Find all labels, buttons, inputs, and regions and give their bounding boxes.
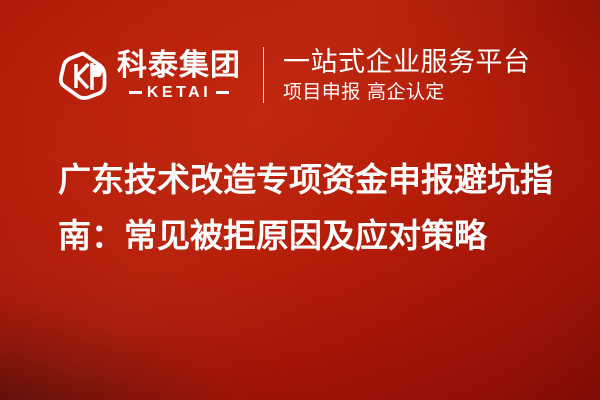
brand-name-cn: 科泰集团 [117, 50, 241, 82]
brand-name-en-row: KETAI [117, 84, 241, 101]
ketai-diamond-kd-monogram-logo [58, 50, 108, 100]
tagline-primary: 一站式企业服务平台 [283, 47, 531, 79]
brand-lockup: 科泰集团 KETAI [58, 50, 241, 101]
headline-line-1: 广东技术改造专项资金申报避坑指 [58, 152, 558, 208]
brand-dash-right-icon [216, 91, 229, 94]
brand-text-group: 科泰集团 KETAI [117, 50, 241, 101]
tagline-group: 一站式企业服务平台 项目申报 高企认定 [283, 47, 531, 104]
header-bar: 科泰集团 KETAI 一站式企业服务平台 项目申报 高企认定 [0, 40, 600, 110]
brand-dash-left-icon [129, 91, 142, 94]
headline-block: 广东技术改造专项资金申报避坑指 南：常见被拒原因及应对策略 [58, 152, 558, 264]
tagline-secondary: 项目申报 高企认定 [283, 80, 531, 104]
brand-name-en: KETAI [147, 84, 211, 101]
poster-banner: 科泰集团 KETAI 一站式企业服务平台 项目申报 高企认定 广东技术改造专项资… [0, 0, 600, 400]
headline-line-2: 南：常见被拒原因及应对策略 [58, 208, 558, 264]
vertical-divider [263, 47, 264, 103]
